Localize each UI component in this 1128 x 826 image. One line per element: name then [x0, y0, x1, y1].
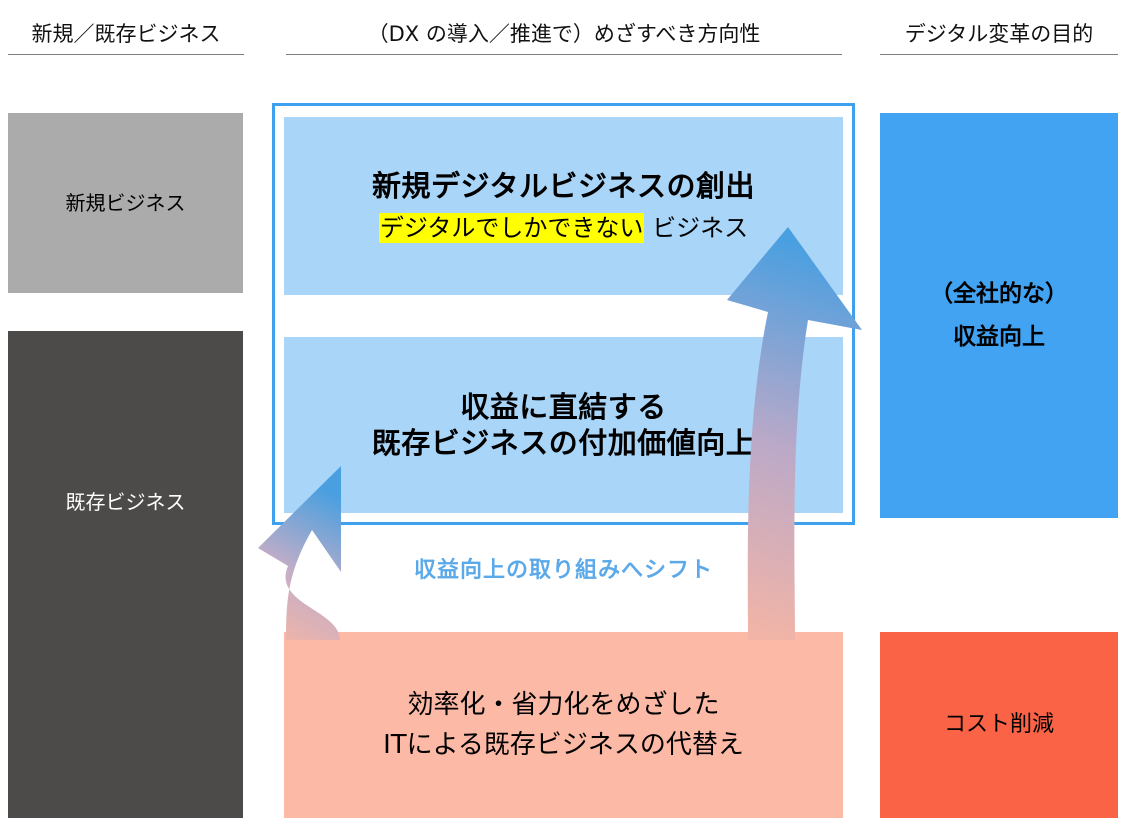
- column-header-right-label: デジタル変革の目的: [905, 22, 1094, 46]
- column-header-center-label: （DX の導入／推進で）めざすべき方向性: [368, 22, 761, 46]
- left-box-new-business: 新規ビジネス: [8, 113, 243, 293]
- right-box-revenue-growth-line1: （全社的な）: [930, 273, 1068, 316]
- right-box-revenue-growth-line2: 収益向上: [930, 316, 1068, 359]
- column-header-right: デジタル変革の目的: [880, 22, 1118, 55]
- right-box-revenue-growth-text: （全社的な） 収益向上: [930, 273, 1068, 358]
- column-header-right-rule: [880, 54, 1118, 55]
- shift-caption: 収益向上の取り組みへシフト: [272, 552, 855, 584]
- panel-it-substitution-line2: ITによる既存ビジネスの代替え: [383, 725, 744, 765]
- shift-caption-label: 収益向上の取り組みへシフト: [414, 558, 713, 583]
- panel-it-substitution: 効率化・省力化をめざした ITによる既存ビジネスの代替え: [284, 632, 843, 818]
- left-box-existing-business: 既存ビジネス: [8, 331, 243, 818]
- column-header-center-rule: [286, 54, 842, 55]
- panel-existing-value-up-line2: 既存ビジネスの付加価値向上: [372, 425, 756, 461]
- right-box-revenue-growth: （全社的な） 収益向上: [880, 113, 1118, 518]
- column-header-left-rule: [8, 54, 244, 55]
- panel-new-digital-subtitle-highlight: デジタルでしかできない: [379, 213, 645, 243]
- right-box-cost-reduction-label: コスト削減: [944, 710, 1054, 741]
- panel-new-digital-title: 新規デジタルビジネスの創出: [372, 168, 755, 204]
- column-header-left-label: 新規／既存ビジネス: [32, 22, 221, 46]
- left-box-new-business-label: 新規ビジネス: [66, 190, 186, 217]
- panel-new-digital-subtitle-rest: ビジネス: [644, 214, 748, 242]
- column-header-center: （DX の導入／推進で）めざすべき方向性: [286, 22, 842, 55]
- panel-it-substitution-line1: 効率化・省力化をめざした: [383, 685, 744, 725]
- panel-existing-value-up: 収益に直結する 既存ビジネスの付加価値向上: [284, 337, 843, 513]
- diagram-canvas: 新規／既存ビジネス （DX の導入／推進で）めざすべき方向性 デジタル変革の目的…: [0, 0, 1128, 826]
- column-header-left: 新規／既存ビジネス: [8, 22, 244, 55]
- right-box-cost-reduction: コスト削減: [880, 632, 1118, 818]
- panel-it-substitution-text: 効率化・省力化をめざした ITによる既存ビジネスの代替え: [383, 685, 744, 766]
- panel-existing-value-up-line1: 収益に直結する: [460, 389, 667, 425]
- panel-new-digital-subtitle: デジタルでしかできない ビジネス: [379, 213, 748, 244]
- left-box-existing-business-label: 既存ビジネス: [66, 489, 186, 516]
- panel-new-digital-business: 新規デジタルビジネスの創出 デジタルでしかできない ビジネス: [284, 117, 843, 295]
